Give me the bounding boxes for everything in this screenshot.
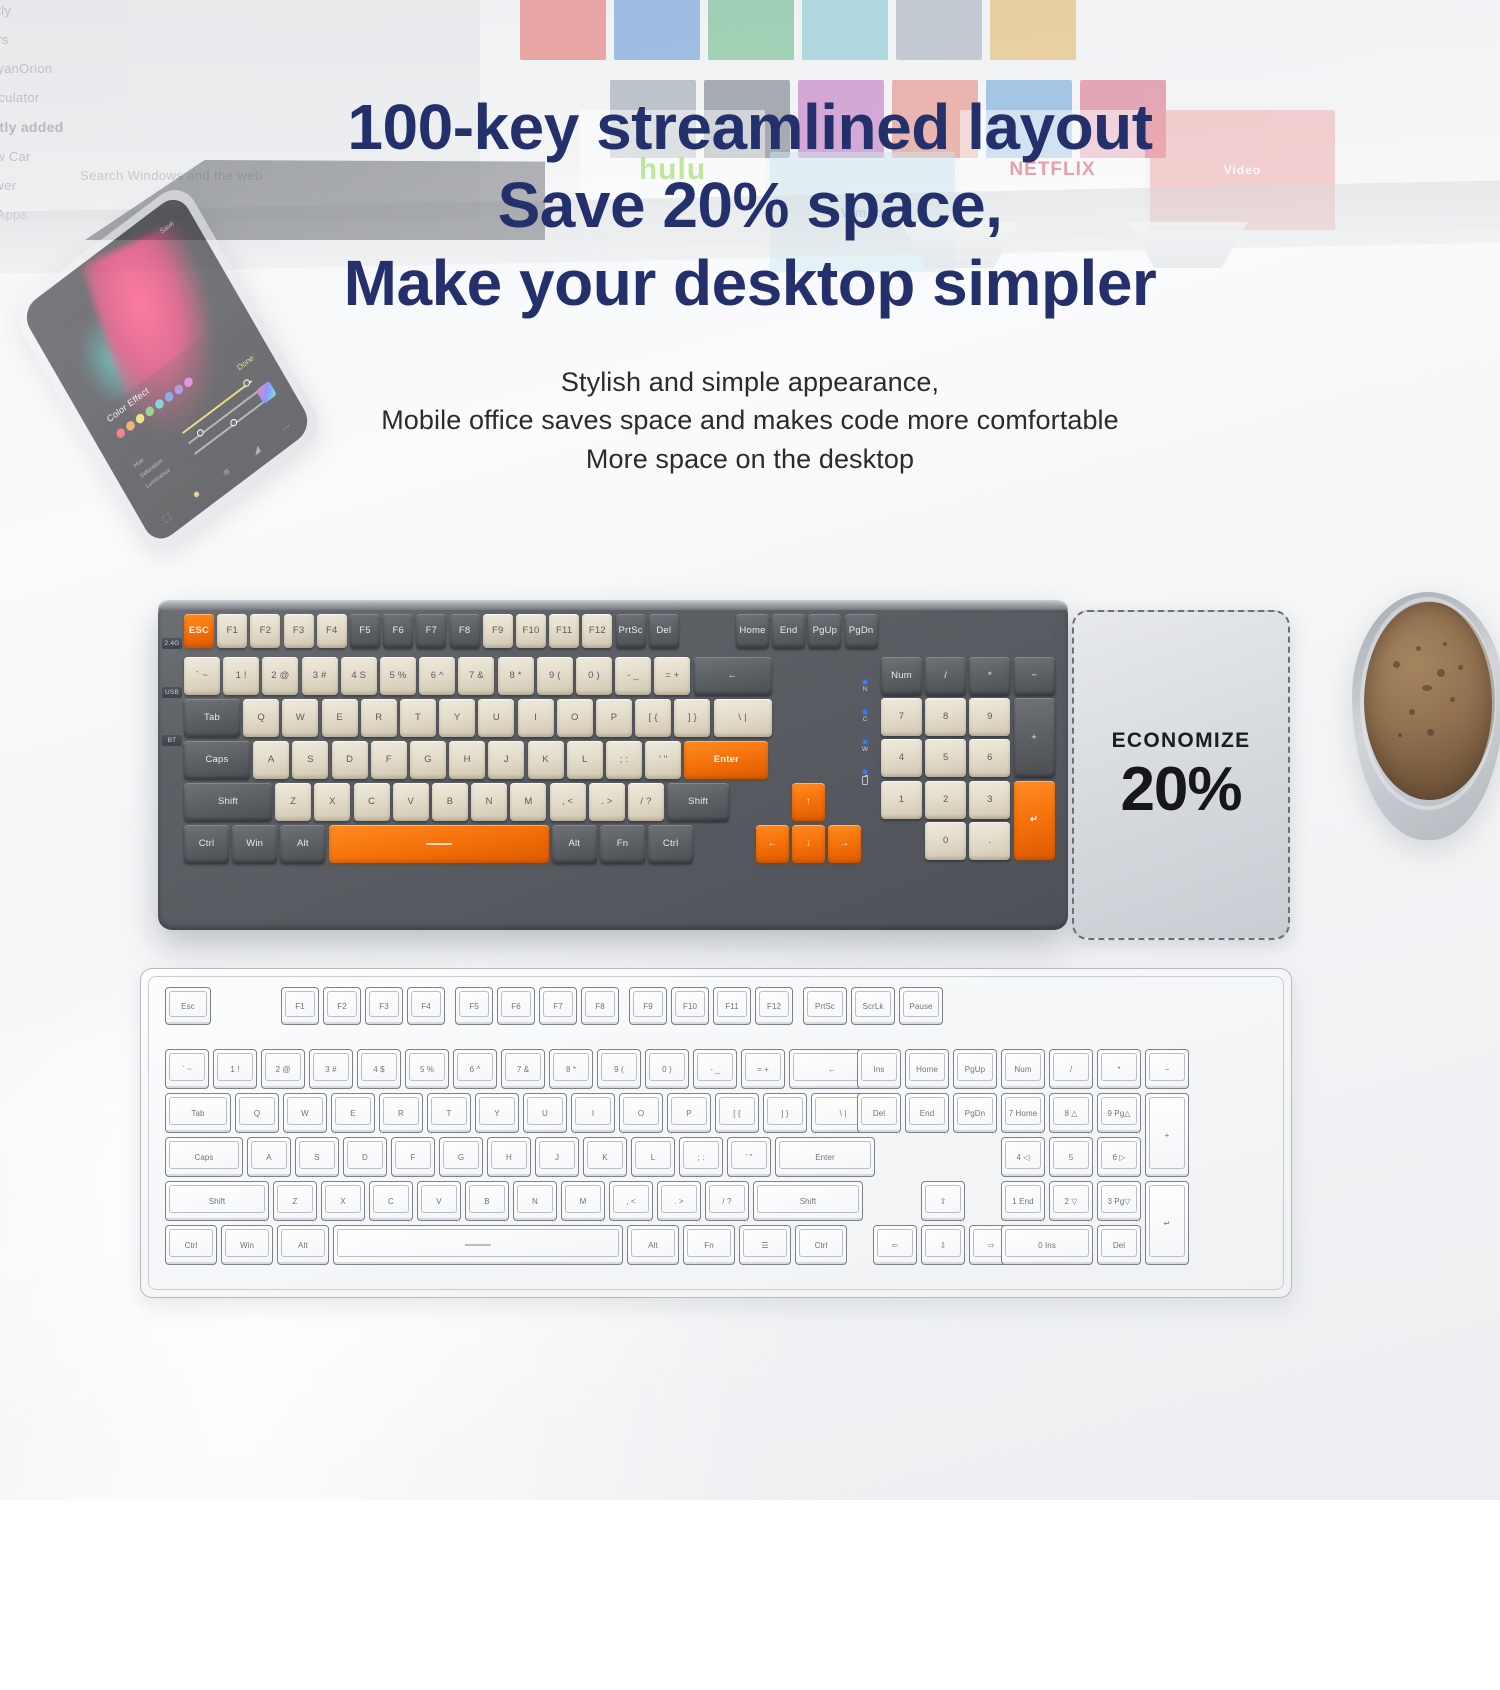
key-num-0[interactable]: 0 ): [576, 657, 612, 695]
key-ctrl[interactable]: Ctrl: [165, 1225, 217, 1265]
key-alpha-l[interactable]: L: [567, 741, 603, 779]
key-h[interactable]: H: [487, 1137, 531, 1177]
key-numpad-4[interactable]: 4: [881, 739, 922, 777]
key-3[interactable]: 3 #: [309, 1049, 353, 1089]
key-pause[interactable]: Pause: [899, 987, 943, 1025]
key-numpad-key[interactable]: /: [925, 657, 966, 695]
led-winlock: W: [862, 740, 868, 753]
mode-tag-24g: 2.4G: [162, 638, 182, 649]
key-alpha-caps[interactable]: Caps: [184, 741, 250, 779]
key-alpha-q[interactable]: Q: [243, 699, 279, 737]
key-num-9[interactable]: 9 (: [537, 657, 573, 695]
key-p[interactable]: P: [667, 1093, 711, 1133]
led-label: C: [863, 716, 868, 723]
key-numpad-5[interactable]: 5: [925, 739, 966, 777]
key-f11[interactable]: F11: [713, 987, 751, 1025]
key-numpad-enter[interactable]: ↵: [1145, 1181, 1189, 1265]
key-key[interactable]: ] }: [763, 1093, 807, 1133]
key-arrow-down[interactable]: ↓: [792, 825, 825, 863]
key-alpha-f[interactable]: F: [371, 741, 407, 779]
list-item: ...ers: [0, 25, 198, 54]
key-numpad-minus[interactable]: −: [1014, 657, 1055, 695]
key-arrow-right[interactable]: →: [828, 825, 861, 863]
key-caps[interactable]: Caps: [165, 1137, 243, 1177]
key-g[interactable]: G: [439, 1137, 483, 1177]
key-v[interactable]: V: [417, 1181, 461, 1221]
key-alpha-shift[interactable]: Shift: [667, 783, 729, 821]
key-alpha-k[interactable]: K: [528, 741, 564, 779]
key-fn-f8[interactable]: F8: [450, 614, 480, 648]
key-o[interactable]: O: [619, 1093, 663, 1133]
key-numpad-8[interactable]: 8: [925, 698, 966, 736]
key-5[interactable]: 5 %: [405, 1049, 449, 1089]
key-key[interactable]: ; :: [679, 1137, 723, 1177]
keyboard-outline-comparison[interactable]: EscF1F2F3F4F5F6F7F8F9F10F11F12PrtScScrLk…: [140, 968, 1292, 1298]
key-alpha-h[interactable]: H: [449, 741, 485, 779]
key-f9[interactable]: F9: [629, 987, 667, 1025]
key-pgup[interactable]: PgUp: [953, 1049, 997, 1089]
key-shift-left[interactable]: Shift: [165, 1181, 269, 1221]
key-numpad-0[interactable]: 0: [925, 822, 966, 860]
list-item: ...nyanOrion: [0, 54, 198, 83]
key-1[interactable]: 1 !: [213, 1049, 257, 1089]
key-f6[interactable]: F6: [497, 987, 535, 1025]
key-space[interactable]: [333, 1225, 623, 1265]
key-enter[interactable]: Enter: [775, 1137, 875, 1177]
headline-line-2: Save 20% space,: [0, 166, 1500, 244]
key-n[interactable]: N: [513, 1181, 557, 1221]
key-numpad-3-pg[interactable]: 3 Pg▽: [1097, 1181, 1141, 1221]
key-alt[interactable]: Alt: [277, 1225, 329, 1265]
status-indicators: N C W: [858, 680, 872, 785]
key-alpha-a[interactable]: A: [253, 741, 289, 779]
key-mod-alt[interactable]: Alt: [552, 825, 597, 863]
key-e[interactable]: E: [331, 1093, 375, 1133]
key-alpha-key[interactable]: . >: [589, 783, 625, 821]
key-arrow-up[interactable]: ⇧: [921, 1181, 965, 1221]
tile: [520, 0, 606, 60]
key-numpad-3[interactable]: 3: [969, 781, 1010, 819]
key-win[interactable]: Win: [221, 1225, 273, 1265]
key-num-8[interactable]: 8 *: [498, 657, 534, 695]
key-alpha-n[interactable]: N: [471, 783, 507, 821]
key-fn-del[interactable]: Del: [649, 614, 679, 648]
key-alpha-enter[interactable]: Enter: [684, 741, 768, 779]
key-0[interactable]: 0 ): [645, 1049, 689, 1089]
key-mod-win[interactable]: Win: [232, 825, 277, 863]
key-numpad-2[interactable]: 2 ▽: [1049, 1181, 1093, 1221]
key-w[interactable]: W: [283, 1093, 327, 1133]
key-7[interactable]: 7 &: [501, 1049, 545, 1089]
page-headline: 100-key streamlined layout Save 20% spac…: [0, 88, 1500, 322]
key-u[interactable]: U: [523, 1093, 567, 1133]
key-fn-f10[interactable]: F10: [516, 614, 546, 648]
key-f7[interactable]: F7: [539, 987, 577, 1025]
key-fn-esc[interactable]: ESC: [184, 614, 214, 648]
key-ctrl[interactable]: Ctrl: [795, 1225, 847, 1265]
key-q[interactable]: Q: [235, 1093, 279, 1133]
key-num-4-s[interactable]: 4 S: [341, 657, 377, 695]
key-numpad-zero[interactable]: 0 Ins: [1001, 1225, 1093, 1265]
key-fn-f11[interactable]: F11: [549, 614, 579, 648]
key-f3[interactable]: F3: [365, 987, 403, 1025]
key-f[interactable]: F: [391, 1137, 435, 1177]
key-numpad-key[interactable]: *: [969, 657, 1010, 695]
key-f2[interactable]: F2: [323, 987, 361, 1025]
key-nav-pgup[interactable]: PgUp: [808, 614, 841, 648]
key-alpha-e[interactable]: E: [322, 699, 358, 737]
key-arrow-down[interactable]: ⇩: [921, 1225, 965, 1265]
economize-panel: ECONOMIZE 20%: [1072, 610, 1290, 940]
key-numpad-9[interactable]: 9: [969, 698, 1010, 736]
key-alpha-c[interactable]: C: [354, 783, 390, 821]
tile: [990, 0, 1076, 60]
key-numpad-9-pg[interactable]: 9 Pg△: [1097, 1093, 1141, 1133]
key-fn-f6[interactable]: F6: [383, 614, 413, 648]
economize-value: 20%: [1120, 759, 1241, 821]
key-key[interactable]: . >: [657, 1181, 701, 1221]
key-alt[interactable]: Alt: [627, 1225, 679, 1265]
key-key[interactable]: = +: [741, 1049, 785, 1089]
key-fn-prtsc[interactable]: PrtSc: [616, 614, 646, 648]
key-alpha-g[interactable]: G: [410, 741, 446, 779]
tile: [708, 0, 794, 60]
key-shift-right[interactable]: Shift: [753, 1181, 863, 1221]
spacebar-marker: [465, 1244, 491, 1246]
key-alpha-tab[interactable]: Tab: [184, 699, 240, 737]
headline-line-3: Make your desktop simpler: [0, 244, 1500, 322]
key-y[interactable]: Y: [475, 1093, 519, 1133]
key-numpad-key[interactable]: *: [1097, 1049, 1141, 1089]
key-key[interactable]: ` ~: [165, 1049, 209, 1089]
key-fn-f9[interactable]: F9: [483, 614, 513, 648]
led-battery: [862, 770, 868, 785]
key-9[interactable]: 9 (: [597, 1049, 641, 1089]
key-fn-f7[interactable]: F7: [416, 614, 446, 648]
key-numpad-5[interactable]: 5: [1049, 1137, 1093, 1177]
key-numpad-num[interactable]: Num: [1001, 1049, 1045, 1089]
key-num-7[interactable]: 7 &: [458, 657, 494, 695]
subcopy-line-3: More space on the desktop: [0, 440, 1500, 478]
key-scrlk[interactable]: ScrLk: [851, 987, 895, 1025]
key-alpha-s[interactable]: S: [292, 741, 328, 779]
spacebar-marker: [426, 843, 452, 846]
key-alpha-key[interactable]: ] }: [674, 699, 710, 737]
key-alpha-v[interactable]: V: [393, 783, 429, 821]
key-key[interactable]: [ {: [715, 1093, 759, 1133]
key-alpha-m[interactable]: M: [510, 783, 546, 821]
key-numpad-key[interactable]: .: [969, 822, 1010, 860]
mode-tag-usb: USB: [162, 687, 182, 698]
key-alpha-i[interactable]: I: [518, 699, 554, 737]
key-s[interactable]: S: [295, 1137, 339, 1177]
list-item: ...ntly: [0, 0, 198, 25]
battery-icon: [862, 776, 868, 785]
key-num-key[interactable]: ` ~: [184, 657, 220, 695]
led-numlock: N: [863, 680, 868, 693]
key-numpad-enter[interactable]: ↵: [1014, 781, 1055, 860]
key-numpad-minus[interactable]: −: [1145, 1049, 1189, 1089]
key-alpha-w[interactable]: W: [282, 699, 318, 737]
key-m[interactable]: M: [561, 1181, 605, 1221]
key-num-key[interactable]: - _: [615, 657, 651, 695]
key-f12[interactable]: F12: [755, 987, 793, 1025]
key-numpad-7[interactable]: 7: [881, 698, 922, 736]
key-fn-f12[interactable]: F12: [582, 614, 612, 648]
key-numpad-num[interactable]: Num: [881, 657, 922, 695]
key-key[interactable]: - _: [693, 1049, 737, 1089]
key-fn-f5[interactable]: F5: [350, 614, 380, 648]
led-label: W: [862, 746, 868, 753]
key-alpha-p[interactable]: P: [596, 699, 632, 737]
key-home[interactable]: Home: [905, 1049, 949, 1089]
key-mod-ctrl[interactable]: Ctrl: [648, 825, 693, 863]
key-x[interactable]: X: [321, 1181, 365, 1221]
key-numpad-key[interactable]: /: [1049, 1049, 1093, 1089]
key-numpad-6[interactable]: 6 ▷: [1097, 1137, 1141, 1177]
key-alpha-d[interactable]: D: [332, 741, 368, 779]
key-b[interactable]: B: [465, 1181, 509, 1221]
subcopy-line-1: Stylish and simple appearance,: [0, 363, 1500, 401]
key-alpha-key[interactable]: ' ": [645, 741, 681, 779]
led-label: N: [863, 686, 868, 693]
key-nav-end[interactable]: End: [772, 614, 805, 648]
key-arrow-backspace[interactable]: ←: [756, 825, 789, 863]
key-numpad-8[interactable]: 8 △: [1049, 1093, 1093, 1133]
key-f4[interactable]: F4: [407, 987, 445, 1025]
key-f10[interactable]: F10: [671, 987, 709, 1025]
key-alpha-y[interactable]: Y: [439, 699, 475, 737]
connection-mode-tags: 2.4G USB BT: [162, 638, 182, 746]
key-r[interactable]: R: [379, 1093, 423, 1133]
key-alpha-z[interactable]: Z: [275, 783, 311, 821]
key-f1[interactable]: F1: [281, 987, 319, 1025]
key-fn-f1[interactable]: F1: [217, 614, 247, 648]
key-key[interactable]: ' ": [727, 1137, 771, 1177]
key-alpha-b[interactable]: B: [432, 783, 468, 821]
key-numpad-1[interactable]: 1: [881, 781, 922, 819]
key-alpha-o[interactable]: O: [557, 699, 593, 737]
key-num-5[interactable]: 5 %: [380, 657, 416, 695]
key-fn-f2[interactable]: F2: [250, 614, 280, 648]
key-j[interactable]: J: [535, 1137, 579, 1177]
led-capslock: C: [863, 710, 868, 723]
key-mod-fn[interactable]: Fn: [600, 825, 645, 863]
key-numpad-2[interactable]: 2: [925, 781, 966, 819]
key-end[interactable]: End: [905, 1093, 949, 1133]
economize-label: ECONOMIZE: [1112, 729, 1251, 753]
key-arrow-left[interactable]: ⇦: [873, 1225, 917, 1265]
key-mod-ctrl[interactable]: Ctrl: [184, 825, 229, 863]
key-c[interactable]: C: [369, 1181, 413, 1221]
key-nav-home[interactable]: Home: [736, 614, 769, 648]
key-prtsc[interactable]: PrtSc: [803, 987, 847, 1025]
key-numpad-4[interactable]: 4 ◁: [1001, 1137, 1045, 1177]
key-pgdn[interactable]: PgDn: [953, 1093, 997, 1133]
key-num-backspace[interactable]: ←: [694, 657, 772, 695]
key-numpad-1-end[interactable]: 1 End: [1001, 1181, 1045, 1221]
key-arrow-up[interactable]: ↑: [792, 783, 825, 821]
key-numpad-6[interactable]: 6: [969, 739, 1010, 777]
key-k[interactable]: K: [583, 1137, 627, 1177]
key-mod-blank[interactable]: [329, 825, 549, 863]
key-2[interactable]: 2 @: [261, 1049, 305, 1089]
key-alpha-key[interactable]: / ?: [628, 783, 664, 821]
key-alpha-key[interactable]: , <: [550, 783, 586, 821]
key-fn[interactable]: Fn: [683, 1225, 735, 1265]
page-subcopy: Stylish and simple appearance, Mobile of…: [0, 363, 1500, 478]
key-num-key[interactable]: = +: [654, 657, 690, 695]
mode-tag-bt: BT: [162, 735, 182, 746]
keyboard-main[interactable]: 2.4G USB BT ESCF1F2F3F4F5F6F7F8F9F10F11F…: [158, 600, 1068, 930]
key-numpad-key[interactable]: +: [1014, 698, 1055, 777]
key-fn-f3[interactable]: F3: [284, 614, 314, 648]
tile: [614, 0, 700, 60]
key-t[interactable]: T: [427, 1093, 471, 1133]
key-alpha-key[interactable]: [ {: [635, 699, 671, 737]
key-alpha-key[interactable]: \ |: [714, 699, 772, 737]
key-alpha-shift[interactable]: Shift: [184, 783, 272, 821]
subcopy-line-2: Mobile office saves space and makes code…: [0, 401, 1500, 439]
key-8[interactable]: 8 *: [549, 1049, 593, 1089]
key-f5[interactable]: F5: [455, 987, 493, 1025]
key-z[interactable]: Z: [273, 1181, 317, 1221]
key-alpha-u[interactable]: U: [478, 699, 514, 737]
key-4[interactable]: 4 $: [357, 1049, 401, 1089]
key-fn-f4[interactable]: F4: [317, 614, 347, 648]
key-numpad-del[interactable]: Del: [1097, 1225, 1141, 1265]
key-l[interactable]: L: [631, 1137, 675, 1177]
key-d[interactable]: D: [343, 1137, 387, 1177]
key-alpha-r[interactable]: R: [361, 699, 397, 737]
key-num-3[interactable]: 3 #: [302, 657, 338, 695]
key-key[interactable]: , <: [609, 1181, 653, 1221]
key-f8[interactable]: F8: [581, 987, 619, 1025]
key-alpha-key[interactable]: ; :: [606, 741, 642, 779]
key-a[interactable]: A: [247, 1137, 291, 1177]
key-ins[interactable]: Ins: [857, 1049, 901, 1089]
tile: [802, 0, 888, 60]
key-6[interactable]: 6 ^: [453, 1049, 497, 1089]
key-num-2[interactable]: 2 @: [262, 657, 298, 695]
key-alpha-t[interactable]: T: [400, 699, 436, 737]
key-i[interactable]: I: [571, 1093, 615, 1133]
glass-rim: [1360, 597, 1497, 810]
key-esc[interactable]: Esc: [165, 987, 211, 1025]
key-num-6[interactable]: 6 ^: [419, 657, 455, 695]
key-menu[interactable]: ☰: [739, 1225, 791, 1265]
key-del[interactable]: Del: [857, 1093, 901, 1133]
headline-line-1: 100-key streamlined layout: [0, 88, 1500, 166]
key-tab[interactable]: Tab: [165, 1093, 231, 1133]
key-numpad-plus[interactable]: +: [1145, 1093, 1189, 1177]
tile: [896, 0, 982, 60]
key-numpad-7-home[interactable]: 7 Home: [1001, 1093, 1045, 1133]
key-key[interactable]: / ?: [705, 1181, 749, 1221]
key-alpha-j[interactable]: J: [488, 741, 524, 779]
key-nav-pgdn[interactable]: PgDn: [845, 614, 878, 648]
key-alpha-x[interactable]: X: [314, 783, 350, 821]
key-mod-alt[interactable]: Alt: [280, 825, 325, 863]
key-num-1[interactable]: 1 !: [223, 657, 259, 695]
